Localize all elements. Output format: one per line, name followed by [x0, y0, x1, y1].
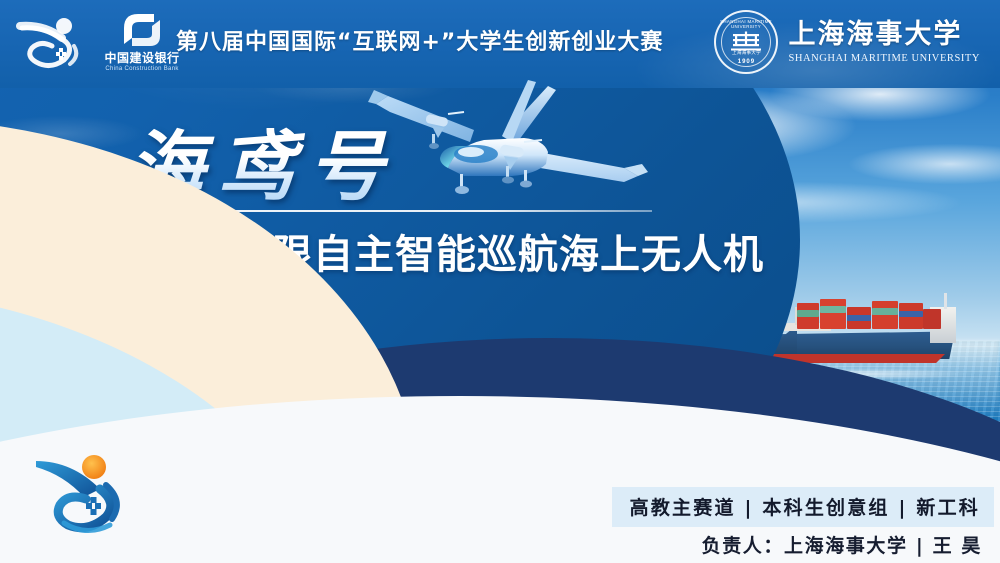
logo-plus-pixel: [86, 503, 92, 509]
shanghai-maritime-university-logo: SHANGHAI MARITIME UNIVERSITY 上海海事大学 1909…: [714, 10, 980, 74]
university-name-en: SHANGHAI MARITIME UNIVERSITY: [788, 53, 980, 64]
presentation-slide: 海鸢号 多功能有限自主智能巡航海上无人机 中国建设银行 China Constr…: [0, 0, 1000, 563]
university-seal-icon: SHANGHAI MARITIME UNIVERSITY 上海海事大学 1909: [714, 10, 778, 74]
uav-sensor-glass: [458, 147, 484, 157]
logo-plus-pixel: [91, 509, 97, 515]
container-stack: [797, 310, 819, 317]
logo-plus-pixel: [56, 52, 60, 56]
ccb-mark-icon: [120, 10, 164, 50]
logo-plus-pixel: [62, 52, 66, 56]
logo-sun-dot: [82, 455, 106, 479]
logo-plus-pixel: [59, 48, 63, 52]
container-stack: [899, 311, 923, 317]
competition-title: 第八届中国国际“互联网+”大学生创新创业大赛: [176, 24, 663, 56]
container-stack: [872, 301, 898, 329]
logo-plus-pixel: [59, 56, 63, 60]
china-construction-bank-logo: 中国建设银行 China Construction Bank: [96, 10, 188, 72]
seal-arc-text: SHANGHAI MARITIME UNIVERSITY: [718, 19, 775, 29]
ship-mast: [944, 293, 947, 309]
uav-left-propeller: [448, 112, 464, 114]
project-leader-line: 负责人：上海海事大学 | 王 昊: [702, 531, 982, 558]
seal-cn-text: 上海海事大学: [716, 50, 776, 56]
container-stack: [820, 299, 846, 329]
ccb-name-cn: 中国建设银行: [96, 52, 188, 65]
ccb-name-en: China Construction Bank: [96, 66, 188, 72]
container-stack: [872, 308, 898, 315]
university-wordmark: 上海海事大学 SHANGHAI MARITIME UNIVERSITY: [788, 21, 980, 64]
internet-plus-competition-logo-color: [28, 445, 160, 546]
container-stack: [847, 315, 871, 321]
internet-plus-competition-logo: [16, 10, 92, 76]
logo-plus-pixel: [91, 497, 97, 503]
university-name-cn: 上海海事大学: [788, 21, 980, 48]
seal-year-text: 1909: [716, 59, 776, 65]
logo-plus-pixel: [95, 503, 101, 509]
container-stack: [820, 306, 846, 313]
competition-track-badge: 高教主赛道 | 本科生创意组 | 新工科: [612, 487, 994, 527]
container-stack: [923, 309, 941, 329]
